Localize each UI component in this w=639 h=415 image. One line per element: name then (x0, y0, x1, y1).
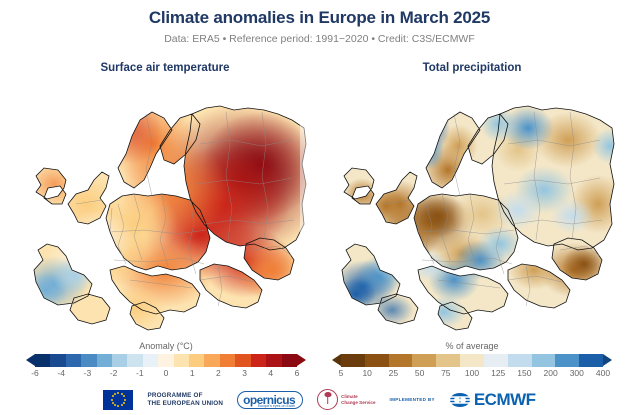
colorbar-temperature-ticks: -6-4-3-2-1012346 (16, 368, 316, 379)
colorbar-precipitation-label: % of average (322, 340, 622, 352)
colorbar-tick: -4 (57, 368, 65, 378)
colorbar-tick: -1 (136, 368, 144, 378)
colorbar-tick: 5 (339, 368, 344, 378)
implemented-by-text: IMPLEMENTED BY (390, 397, 435, 402)
colorbar-precipitation: % of average 510255075100125150200300400 (322, 340, 622, 378)
eu-star (111, 399, 113, 401)
copernicus-logo: opernicus Europe's eyes on Earth (237, 391, 303, 409)
colorbar-tick: 25 (389, 368, 398, 378)
precipitation-anomaly-raster (322, 84, 622, 334)
eu-programme-line2: THE EUROPEAN UNION (147, 400, 223, 408)
c3s-text: Climate Change Service (341, 394, 375, 406)
copernicus-tagline: Europe's eyes on Earth (258, 404, 295, 408)
colorbar-precipitation-low-arrow (332, 354, 341, 366)
panel-title-precipitation: Total precipitation (322, 62, 622, 74)
colorbar-temperature-low-arrow (26, 354, 35, 366)
eu-star (117, 405, 119, 407)
colorbar-tick: 50 (415, 368, 424, 378)
colorbar-tick: -3 (84, 368, 92, 378)
eu-star (112, 402, 114, 404)
colorbar-precipitation-ticks: 510255075100125150200300400 (322, 368, 622, 379)
colorbar-tick: 0 (164, 368, 169, 378)
ecmwf-logo: ECMWF (449, 390, 536, 410)
colorbar-tick: 4 (268, 368, 273, 378)
colorbar-tick: 3 (242, 368, 247, 378)
footer: PROGRAMME OF THE EUROPEAN UNION opernicu… (0, 384, 639, 415)
colorbar-tick: 400 (596, 368, 610, 378)
colorbar-precipitation-high-arrow (603, 354, 612, 366)
colorbar-precipitation-strip (341, 354, 603, 367)
colorbar-tick: 150 (517, 368, 531, 378)
eu-star (123, 402, 125, 404)
colorbar-tick: 10 (362, 368, 371, 378)
eu-star (123, 395, 125, 397)
c3s-logo: Climate Change Service (317, 389, 375, 410)
colorbar-tick: 200 (544, 368, 558, 378)
eu-star (121, 404, 123, 406)
colorbar-temperature-strip (35, 354, 297, 367)
colorbar-temperature-high-arrow (297, 354, 306, 366)
eu-flag-icon (103, 390, 133, 410)
colorbar-tick: 6 (295, 368, 300, 378)
eu-star (112, 395, 114, 397)
map-surface-air-temperature (14, 84, 314, 334)
map-total-precipitation (322, 84, 622, 334)
panel-title-temperature: Surface air temperature (15, 62, 315, 74)
page-title: Climate anomalies in Europe in March 202… (0, 8, 639, 28)
eu-star (114, 393, 116, 395)
page-subtitle: Data: ERA5 • Reference period: 1991−2020… (0, 33, 639, 45)
colorbar-tick: -6 (31, 368, 39, 378)
colorbar-tick: 2 (216, 368, 221, 378)
colorbar-tick: 75 (441, 368, 450, 378)
c3s-line2: Change Service (341, 400, 375, 406)
temperature-anomaly-raster (14, 84, 314, 334)
ecmwf-wordmark: ECMWF (474, 390, 536, 410)
eu-programme-line1: PROGRAMME OF (147, 392, 223, 400)
eu-star (114, 404, 116, 406)
colorbar-tick: 1 (190, 368, 195, 378)
colorbar-tick: 100 (465, 368, 479, 378)
colorbar-tick: -2 (110, 368, 118, 378)
eu-star (117, 392, 119, 394)
colorbar-tick: 125 (491, 368, 505, 378)
eu-programme-text: PROGRAMME OF THE EUROPEAN UNION (147, 392, 223, 408)
eu-star (124, 399, 126, 401)
colorbar-temperature: Anomaly (°C) -6-4-3-2-1012346 (16, 340, 316, 378)
ecmwf-mark-icon (449, 392, 471, 408)
colorbar-tick: 300 (570, 368, 584, 378)
colorbar-temperature-label: Anomaly (°C) (16, 340, 316, 352)
c3s-thermometer-icon (317, 389, 338, 410)
